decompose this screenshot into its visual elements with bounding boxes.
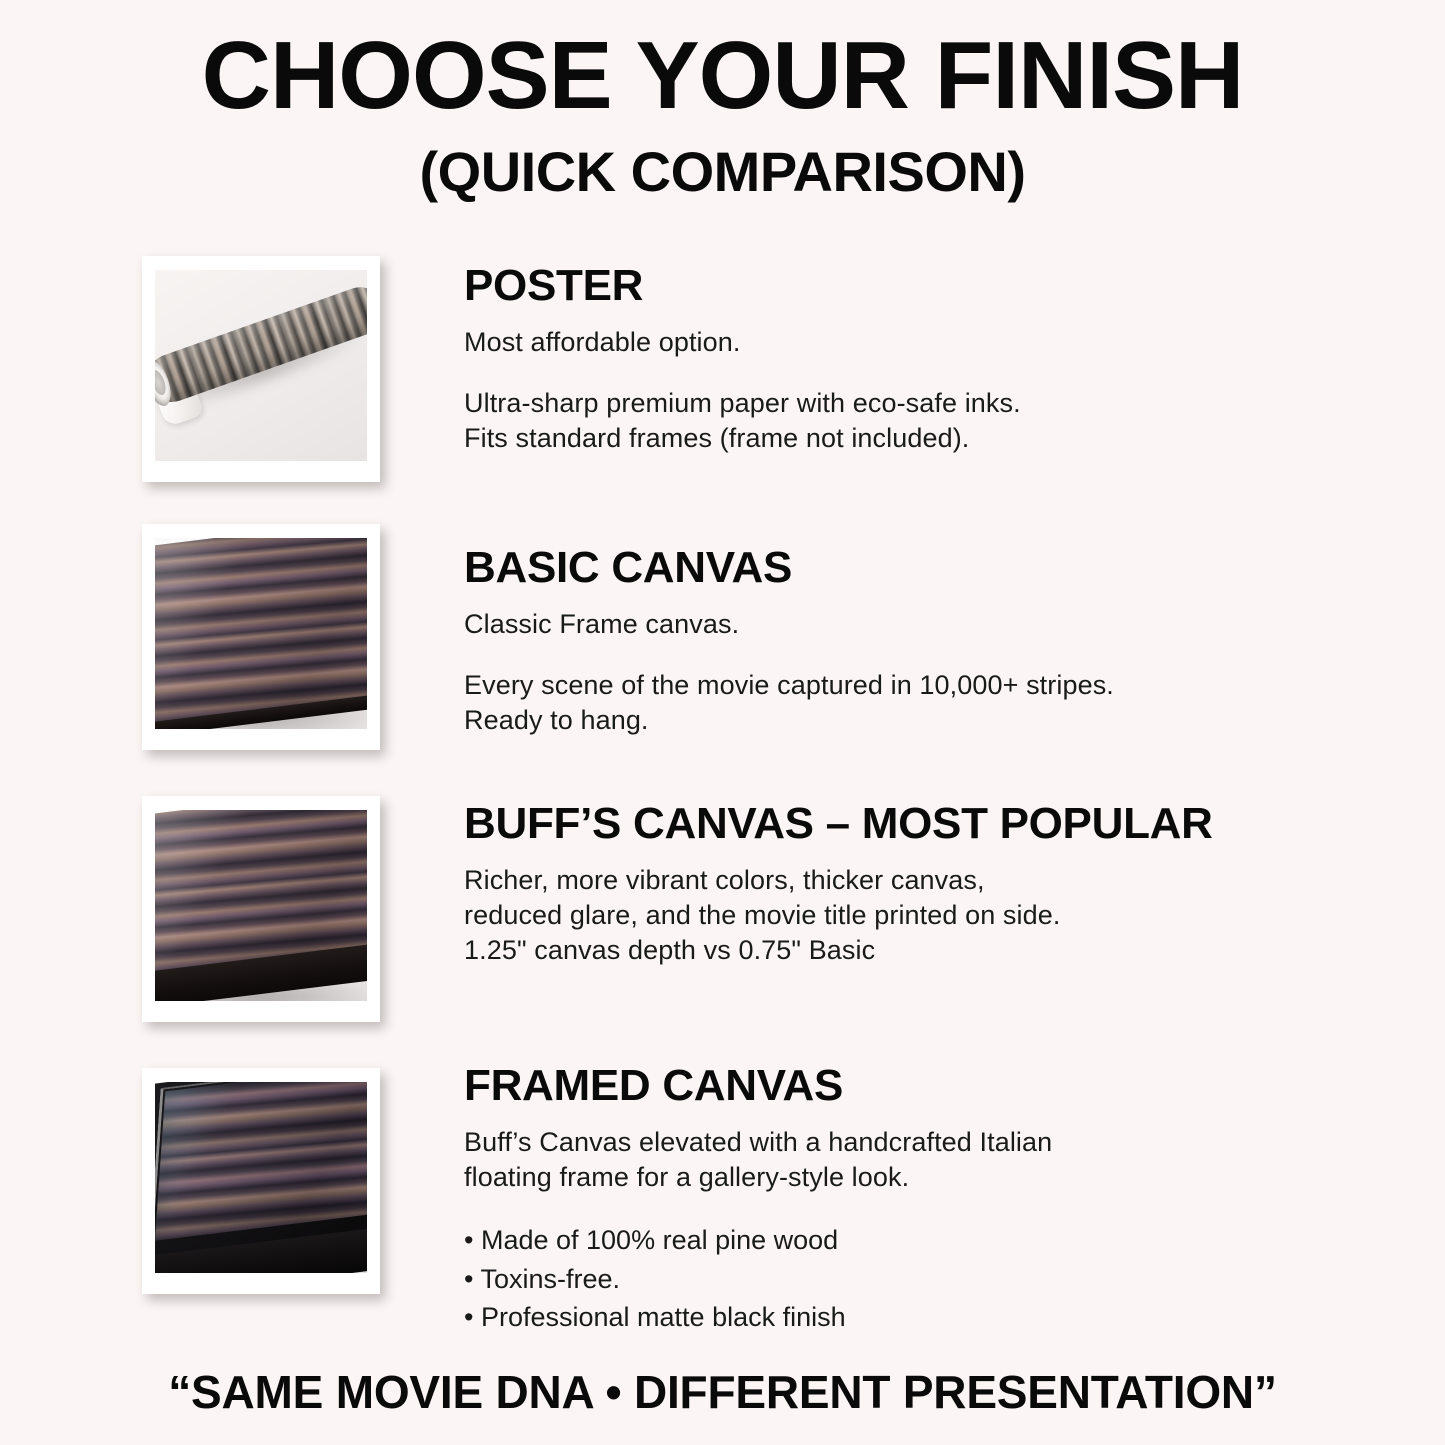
option-detail-line-2: Fits standard frames (frame not included… (464, 421, 1324, 456)
buffs-canvas-corner-photo (155, 810, 367, 1001)
list-item: • Professional matte black finish (464, 1298, 1324, 1337)
rolled-poster-photo (155, 270, 367, 461)
framed-canvas-bullet-list: • Made of 100% real pine wood • Toxins-f… (464, 1221, 1324, 1338)
page-subtitle: (QUICK COMPARISON) (0, 136, 1445, 209)
option-detail-line-2: reduced glare, and the movie title print… (464, 898, 1324, 933)
buffs-canvas-text-block: BUFF’S CANVAS – MOST POPULAR Richer, mor… (464, 800, 1324, 968)
framed-canvas-thumbnail[interactable] (142, 1068, 380, 1294)
comparison-infographic: CHOOSE YOUR FINISH (QUICK COMPARISON) PO… (0, 0, 1445, 1445)
option-detail-line-2: floating frame for a gallery-style look. (464, 1160, 1324, 1195)
option-heading: FRAMED CANVAS (464, 1062, 1324, 1110)
header: CHOOSE YOUR FINISH (QUICK COMPARISON) (0, 0, 1445, 208)
option-lead: Classic Frame canvas. (464, 607, 1324, 642)
option-heading: BASIC CANVAS (464, 544, 1324, 592)
option-detail-line-1: Ultra-sharp premium paper with eco-safe … (464, 386, 1324, 421)
list-item: • Toxins-free. (464, 1260, 1324, 1299)
basic-canvas-thumbnail[interactable] (142, 524, 380, 750)
option-lead: Most affordable option. (464, 325, 1324, 360)
option-row-buffs-canvas: BUFF’S CANVAS – MOST POPULAR Richer, mor… (0, 780, 1445, 1052)
option-detail-line-1: Richer, more vibrant colors, thicker can… (464, 863, 1324, 898)
option-heading: BUFF’S CANVAS – MOST POPULAR (464, 800, 1324, 848)
option-detail-line-2: Ready to hang. (464, 703, 1324, 738)
basic-canvas-corner-photo (155, 538, 367, 729)
option-heading: POSTER (464, 262, 1324, 310)
list-item: • Made of 100% real pine wood (464, 1221, 1324, 1260)
poster-text-block: POSTER Most affordable option. Ultra-sha… (464, 262, 1324, 456)
option-detail-line-3: 1.25" canvas depth vs 0.75" Basic (464, 933, 1324, 968)
basic-canvas-text-block: BASIC CANVAS Classic Frame canvas. Every… (464, 544, 1324, 738)
option-row-framed-canvas: FRAMED CANVAS Buff’s Canvas elevated wit… (0, 1052, 1445, 1328)
option-row-poster: POSTER Most affordable option. Ultra-sha… (0, 240, 1445, 508)
footer-tagline: “SAME MOVIE DNA • DIFFERENT PRESENTATION… (0, 1365, 1445, 1419)
poster-thumbnail[interactable] (142, 256, 380, 482)
option-detail-line-1: Every scene of the movie captured in 10,… (464, 668, 1324, 703)
framed-canvas-text-block: FRAMED CANVAS Buff’s Canvas elevated wit… (464, 1062, 1324, 1337)
buffs-canvas-thumbnail[interactable] (142, 796, 380, 1022)
option-detail-line-1: Buff’s Canvas elevated with a handcrafte… (464, 1125, 1324, 1160)
framed-canvas-corner-photo (155, 1082, 367, 1273)
option-row-basic-canvas: BASIC CANVAS Classic Frame canvas. Every… (0, 508, 1445, 780)
page-title: CHOOSE YOUR FINISH (0, 22, 1445, 130)
